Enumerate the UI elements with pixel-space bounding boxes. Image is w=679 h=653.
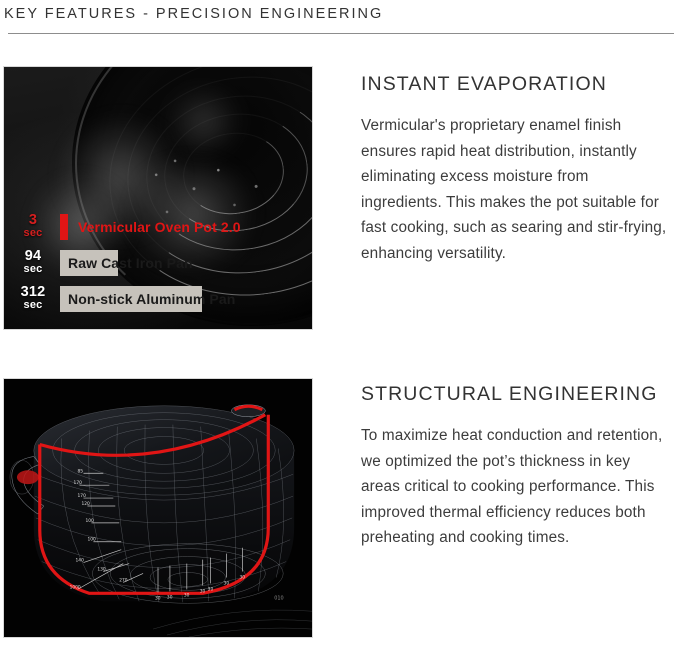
svg-text:100: 100 — [85, 518, 94, 524]
svg-text:30: 30 — [184, 592, 190, 598]
bar-value-unit: sec — [14, 227, 52, 240]
svg-text:130: 130 — [97, 567, 106, 573]
svg-text:30: 30 — [155, 595, 161, 601]
bar-track-aluminum: Non-stick Aluminum Pan — [60, 286, 300, 312]
steam-plume-4 — [158, 88, 250, 156]
bar-track-cast-iron: Raw Cast Iron Pan — [60, 250, 300, 276]
handle-red-accent — [17, 470, 39, 484]
feature-section-instant-evaporation: 3 sec Vermicular Oven Pot 2.0 94 sec Raw… — [0, 66, 679, 330]
svg-text:1000: 1000 — [70, 584, 81, 590]
page-title: KEY FEATURES - PRECISION ENGINEERING — [4, 4, 679, 24]
bar-value-number: 94 — [14, 250, 52, 263]
bar-value-unit: sec — [14, 263, 52, 276]
evaporation-time-bar-chart: 3 sec Vermicular Oven Pot 2.0 94 sec Raw… — [14, 209, 300, 317]
bar-value-unit: sec — [14, 299, 52, 312]
cad-corner-label: 010 — [274, 595, 283, 601]
bar-value-number: 312 — [14, 286, 52, 299]
cad-wireframe-svg: 85170 170120 100100 140130 1000270 3030 … — [4, 379, 312, 637]
svg-text:100: 100 — [87, 537, 96, 543]
feature-title-structural-engineering: STRUCTURAL ENGINEERING — [361, 378, 671, 406]
feature-text-structural-engineering: STRUCTURAL ENGINEERING To maximize heat … — [313, 378, 679, 551]
bar-value-cast-iron: 94 sec — [14, 250, 52, 276]
bar-value-vermicular: 3 sec — [14, 214, 52, 240]
svg-text:30: 30 — [208, 586, 214, 592]
feature-title-instant-evaporation: INSTANT EVAPORATION — [361, 66, 671, 96]
bar-track-vermicular: Vermicular Oven Pot 2.0 — [60, 214, 300, 240]
bar-value-number: 3 — [14, 214, 52, 227]
svg-text:170: 170 — [78, 493, 87, 499]
cad-wireframe-pot-diagram: 85170 170120 100100 140130 1000270 3030 … — [4, 379, 312, 637]
base-plate-arcs — [153, 610, 312, 637]
svg-text:140: 140 — [76, 558, 85, 564]
svg-text:30: 30 — [224, 580, 230, 586]
feature-section-structural-engineering: 85170 170120 100100 140130 1000270 3030 … — [0, 378, 679, 638]
svg-text:170: 170 — [74, 480, 83, 486]
page-header: KEY FEATURES - PRECISION ENGINEERING — [0, 0, 679, 34]
svg-text:30: 30 — [167, 594, 173, 600]
svg-text:270: 270 — [119, 577, 128, 583]
svg-text:30: 30 — [239, 574, 245, 580]
feature-text-instant-evaporation: INSTANT EVAPORATION Vermicular's proprie… — [313, 66, 679, 266]
svg-text:85: 85 — [78, 468, 84, 474]
svg-text:120: 120 — [81, 501, 90, 507]
header-divider — [8, 33, 674, 34]
bar-row-aluminum: 312 sec Non-stick Aluminum Pan — [14, 281, 300, 317]
feature-image-steaming-pot: 3 sec Vermicular Oven Pot 2.0 94 sec Raw… — [3, 66, 313, 330]
bar-label-vermicular: Vermicular Oven Pot 2.0 — [78, 214, 241, 240]
bar-label-cast-iron: Raw Cast Iron Pan — [68, 250, 193, 276]
feature-body-instant-evaporation: Vermicular's proprietary enamel finish e… — [361, 113, 671, 266]
lid-knob — [232, 405, 266, 417]
bar-value-aluminum: 312 sec — [14, 286, 52, 312]
bar-row-cast-iron: 94 sec Raw Cast Iron Pan — [14, 245, 300, 281]
svg-text:30: 30 — [200, 588, 206, 594]
bar-fill-vermicular — [60, 214, 68, 240]
feature-image-cad-wireframe: 85170 170120 100100 140130 1000270 3030 … — [3, 378, 313, 638]
feature-body-structural-engineering: To maximize heat conduction and retentio… — [361, 423, 671, 551]
bar-label-aluminum: Non-stick Aluminum Pan — [68, 286, 235, 312]
bar-row-vermicular: 3 sec Vermicular Oven Pot 2.0 — [14, 209, 300, 245]
